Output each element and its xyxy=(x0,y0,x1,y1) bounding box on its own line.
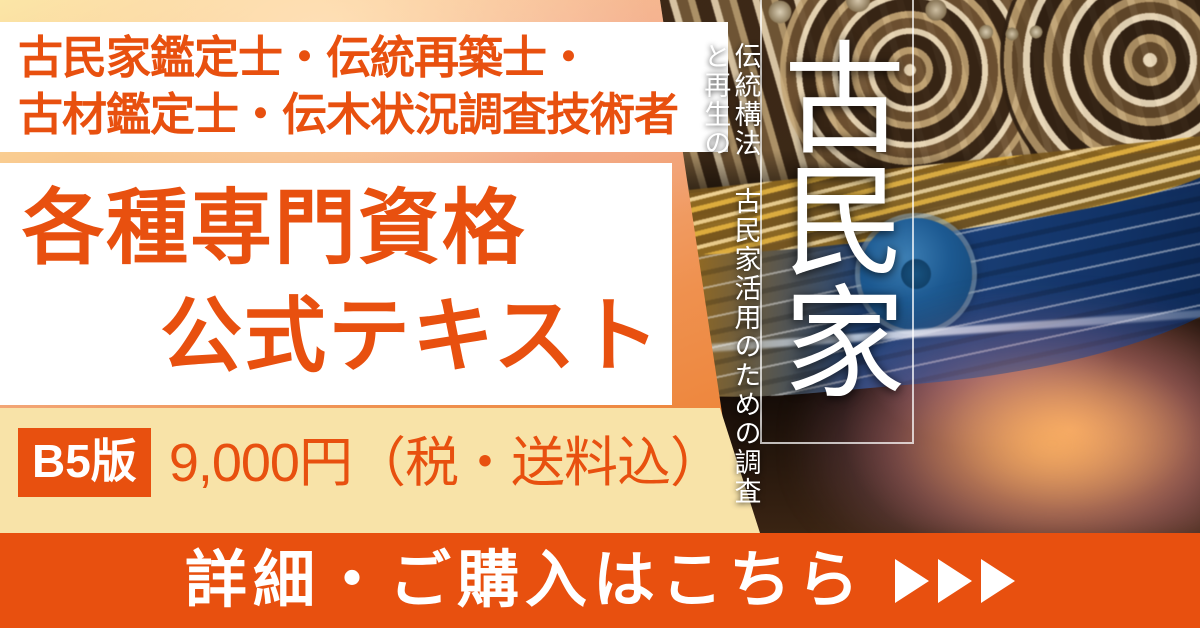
chevron-right-icon-2 xyxy=(938,559,972,603)
price-amount: 9,000円（税・送料込） xyxy=(169,436,723,490)
heading-line-2: 古材鑑定士・伝木状況調査技術者 xyxy=(18,87,728,144)
promo-banner: 古民家 伝統構法 古民家活用のための調査と再生の 古民家鑑定士・伝統再築士・ 古… xyxy=(0,0,1200,628)
heading-line-1: 古民家鑑定士・伝統再築士・ xyxy=(18,30,728,87)
chevron-right-icon-1 xyxy=(895,559,929,603)
price-row: B5版 9,000円（税・送料込） xyxy=(18,428,723,497)
qualification-heading: 古民家鑑定士・伝統再築士・ 古材鑑定士・伝木状況調査技術者 xyxy=(18,30,728,143)
cta-arrows xyxy=(895,559,1015,603)
title-line-1: 各種専門資格 xyxy=(0,175,672,283)
book-title-vertical: 古民家 xyxy=(770,8,900,428)
title-line-2: 公式テキスト xyxy=(0,283,672,391)
cta-label: 詳細・ご購入はこちら xyxy=(185,550,865,612)
cta-bar[interactable]: 詳細・ご購入はこちら xyxy=(0,533,1200,628)
chevron-right-icon-3 xyxy=(981,559,1015,603)
page-title: 各種専門資格 公式テキスト xyxy=(0,175,672,391)
format-badge: B5版 xyxy=(18,428,151,497)
